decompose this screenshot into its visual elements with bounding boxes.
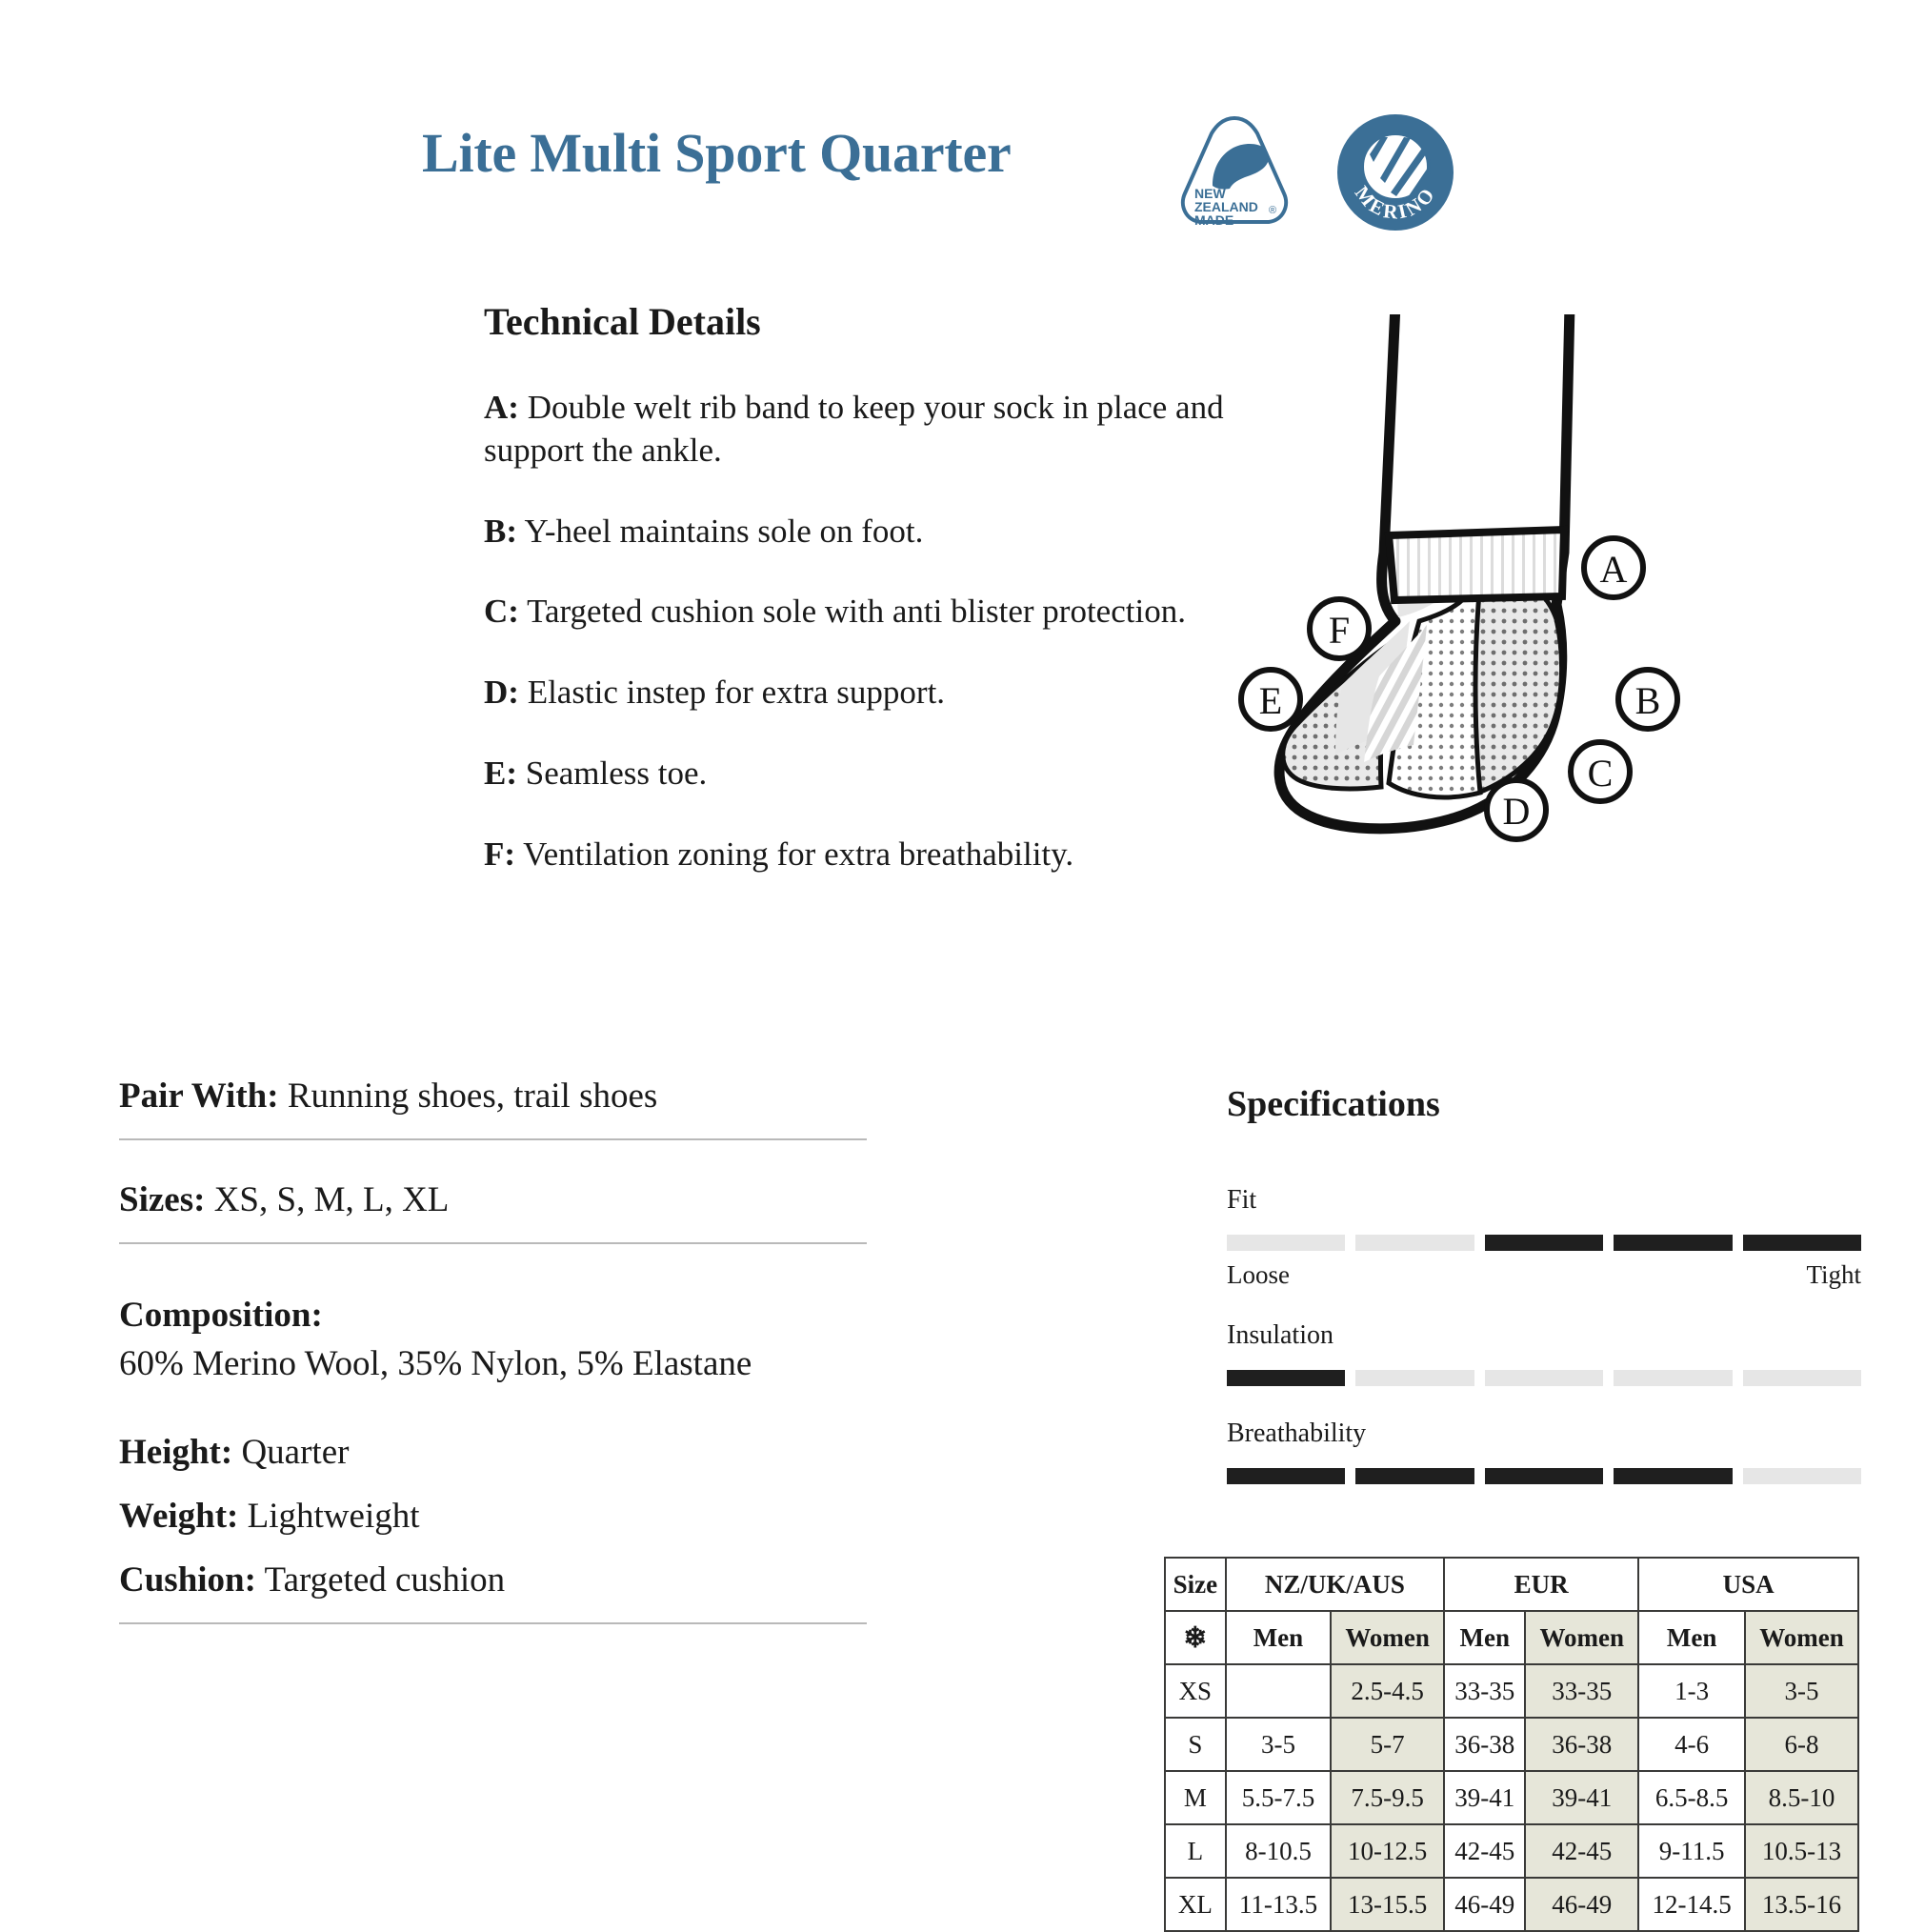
size-chart-subcol-eur-men: Men: [1444, 1611, 1525, 1664]
technical-details-section: Technical Details A: Double welt rib ban…: [484, 303, 1236, 876]
spec-segment-1: [1227, 1370, 1345, 1386]
technical-detail-f-text: Ventilation zoning for extra breathabili…: [523, 835, 1073, 873]
size-chart-header-row-2: ❄ Men Women Men Women Men Women: [1165, 1611, 1858, 1664]
nz-men-cell: 3-5: [1226, 1718, 1332, 1771]
usa-women-cell: 10.5-13: [1745, 1824, 1858, 1878]
attribute-weight-key: Weight:: [119, 1497, 238, 1536]
technical-detail-d: D: Elastic instep for extra support.: [484, 672, 1236, 714]
merino-logo: MERINO: [1335, 112, 1455, 232]
attribute-composition-key: Composition:: [119, 1296, 323, 1335]
size-chart-header-row-1: Size NZ/UK/AUS EUR USA: [1165, 1558, 1858, 1611]
size-chart-subcol-usa-men: Men: [1638, 1611, 1745, 1664]
size-chart-subcol-eur-women: Women: [1525, 1611, 1638, 1664]
page-header: Lite Multi Sport Quarter NEW ZEALAND MAD…: [0, 0, 1905, 257]
technical-detail-e-text: Seamless toe.: [526, 755, 708, 792]
spec-label-breathability: Breathability: [1227, 1420, 1861, 1447]
specifications-section: Specifications Fit Loose Tight Insulatio…: [1227, 1086, 1861, 1484]
eur-men-cell: 46-49: [1444, 1878, 1525, 1931]
specifications-heading: Specifications: [1227, 1086, 1861, 1122]
eur-men-cell: 42-45: [1444, 1824, 1525, 1878]
page-title: Lite Multi Sport Quarter: [422, 126, 1012, 181]
spec-segment-5: [1743, 1235, 1861, 1251]
new-zealand-made-logo: NEW ZEALAND MADE ®: [1173, 113, 1295, 231]
size-cell: S: [1165, 1718, 1226, 1771]
logo-group: NEW ZEALAND MADE ® MERINO: [1173, 112, 1455, 232]
spec-segment-3: [1485, 1235, 1603, 1251]
eur-men-cell: 36-38: [1444, 1718, 1525, 1771]
spec-segment-1: [1227, 1468, 1345, 1484]
attribute-pair-with-key: Pair With:: [119, 1077, 279, 1116]
eur-men-cell: 33-35: [1444, 1664, 1525, 1718]
size-cell: XL: [1165, 1878, 1226, 1931]
spec-segment-4: [1614, 1468, 1732, 1484]
eur-women-cell: 39-41: [1525, 1771, 1638, 1824]
usa-women-cell: 13.5-16: [1745, 1878, 1858, 1931]
attribute-sizes-value: XS, S, M, L, XL: [214, 1180, 450, 1219]
callout-label-f: F: [1329, 609, 1350, 652]
usa-men-cell: 4-6: [1638, 1718, 1745, 1771]
size-chart: Size NZ/UK/AUS EUR USA ❄ Men Women Men W…: [1164, 1557, 1859, 1932]
nz-women-cell: 2.5-4.5: [1331, 1664, 1444, 1718]
nz-men-cell: [1226, 1664, 1332, 1718]
attribute-sizes-key: Sizes:: [119, 1180, 205, 1219]
spec-segment-1: [1227, 1235, 1345, 1251]
sock-diagram: A B C D E F: [1229, 314, 1762, 886]
spec-ends-fit: Loose Tight: [1227, 1262, 1861, 1288]
attribute-composition-value: 60% Merino Wool, 35% Nylon, 5% Elastane: [119, 1342, 867, 1386]
callout-label-b: B: [1635, 679, 1661, 722]
table-row: M 5.5-7.5 7.5-9.5 39-41 39-41 6.5-8.5 8.…: [1165, 1771, 1858, 1824]
usa-men-cell: 6.5-8.5: [1638, 1771, 1745, 1824]
technical-detail-f-key: F:: [484, 835, 515, 873]
spec-group-breathability: Breathability: [1227, 1420, 1861, 1484]
attribute-height-value: Quarter: [241, 1433, 349, 1472]
size-chart-subcol-nz-women: Women: [1331, 1611, 1444, 1664]
technical-details-heading: Technical Details: [484, 303, 1236, 341]
technical-detail-b: B: Y-heel maintains sole on foot.: [484, 511, 1236, 553]
spec-segment-4: [1614, 1370, 1732, 1386]
spec-segment-4: [1614, 1235, 1732, 1251]
registered-trademark-icon: ®: [1269, 205, 1276, 216]
size-chart-col-nzukaus: NZ/UK/AUS: [1226, 1558, 1444, 1611]
technical-detail-b-key: B:: [484, 513, 517, 550]
callout-label-c: C: [1588, 752, 1614, 795]
spec-segment-5: [1743, 1468, 1861, 1484]
callout-label-e: E: [1259, 679, 1282, 722]
attribute-divider-3: [119, 1622, 867, 1624]
size-chart-subcol-usa-women: Women: [1745, 1611, 1858, 1664]
attributes-section: Pair With: Running shoes, trail shoes Si…: [119, 1075, 867, 1624]
size-cell: M: [1165, 1771, 1226, 1824]
eur-men-cell: 39-41: [1444, 1771, 1525, 1824]
eur-women-cell: 36-38: [1525, 1718, 1638, 1771]
nz-women-cell: 5-7: [1331, 1718, 1444, 1771]
technical-detail-c-text: Targeted cushion sole with anti blister …: [527, 593, 1186, 630]
usa-men-cell: 12-14.5: [1638, 1878, 1745, 1931]
spec-bar-fit: [1227, 1235, 1861, 1251]
usa-women-cell: 8.5-10: [1745, 1771, 1858, 1824]
spec-bar-breathability: [1227, 1468, 1861, 1484]
technical-detail-e: E: Seamless toe.: [484, 753, 1236, 795]
spec-segment-3: [1485, 1370, 1603, 1386]
spec-segment-5: [1743, 1370, 1861, 1386]
usa-men-cell: 1-3: [1638, 1664, 1745, 1718]
table-row: S 3-5 5-7 36-38 36-38 4-6 6-8: [1165, 1718, 1858, 1771]
eur-women-cell: 33-35: [1525, 1664, 1638, 1718]
technical-detail-c: C: Targeted cushion sole with anti blist…: [484, 591, 1236, 634]
attribute-cushion-key: Cushion:: [119, 1560, 256, 1600]
attribute-composition: Composition:: [119, 1294, 867, 1337]
technical-detail-f: F: Ventilation zoning for extra breathab…: [484, 834, 1236, 876]
technical-detail-e-key: E:: [484, 755, 517, 792]
nz-men-cell: 8-10.5: [1226, 1824, 1332, 1878]
nz-logo-line3: MADE: [1194, 212, 1233, 228]
table-row: L 8-10.5 10-12.5 42-45 42-45 9-11.5 10.5…: [1165, 1824, 1858, 1878]
technical-detail-d-text: Elastic instep for extra support.: [528, 674, 945, 711]
sock-illustration: A B C D E F: [1229, 314, 1762, 886]
table-row: XS 2.5-4.5 33-35 33-35 1-3 3-5: [1165, 1664, 1858, 1718]
spec-bar-insulation: [1227, 1370, 1861, 1386]
spec-end-left-fit: Loose: [1227, 1262, 1290, 1288]
size-chart-col-size: Size: [1165, 1558, 1226, 1611]
callout-label-d: D: [1503, 790, 1531, 833]
spec-group-insulation: Insulation: [1227, 1322, 1861, 1386]
size-chart-col-eur: EUR: [1444, 1558, 1638, 1611]
size-chart-table: Size NZ/UK/AUS EUR USA ❄ Men Women Men W…: [1164, 1557, 1859, 1932]
attribute-weight-value: Lightweight: [248, 1497, 420, 1536]
spec-segment-2: [1355, 1235, 1474, 1251]
attribute-weight: Weight: Lightweight: [119, 1495, 867, 1538]
size-cell: XS: [1165, 1664, 1226, 1718]
technical-detail-c-key: C:: [484, 593, 519, 630]
attribute-cushion-value: Targeted cushion: [265, 1560, 506, 1600]
nz-women-cell: 13-15.5: [1331, 1878, 1444, 1931]
table-row: XL 11-13.5 13-15.5 46-49 46-49 12-14.5 1…: [1165, 1878, 1858, 1931]
eur-women-cell: 46-49: [1525, 1878, 1638, 1931]
usa-men-cell: 9-11.5: [1638, 1824, 1745, 1878]
technical-detail-a-text: Double welt rib band to keep your sock i…: [484, 389, 1224, 469]
attribute-height-key: Height:: [119, 1433, 232, 1472]
attribute-cushion: Cushion: Targeted cushion: [119, 1559, 867, 1601]
size-cell: L: [1165, 1824, 1226, 1878]
spec-group-fit: Fit Loose Tight: [1227, 1187, 1861, 1288]
size-chart-subcol-nz-men: Men: [1226, 1611, 1332, 1664]
attribute-pair-with: Pair With: Running shoes, trail shoes: [119, 1075, 867, 1117]
usa-women-cell: 6-8: [1745, 1718, 1858, 1771]
technical-detail-b-text: Y-heel maintains sole on foot.: [524, 513, 923, 550]
attribute-height: Height: Quarter: [119, 1431, 867, 1474]
usa-women-cell: 3-5: [1745, 1664, 1858, 1718]
nz-women-cell: 7.5-9.5: [1331, 1771, 1444, 1824]
technical-detail-a-key: A:: [484, 389, 519, 426]
snowflake-icon: ❄: [1165, 1611, 1226, 1664]
technical-detail-d-key: D:: [484, 674, 519, 711]
attribute-pair-with-value: Running shoes, trail shoes: [288, 1077, 657, 1116]
callout-label-a: A: [1600, 548, 1628, 591]
spec-end-right-fit: Tight: [1806, 1262, 1861, 1288]
eur-women-cell: 42-45: [1525, 1824, 1638, 1878]
nz-men-cell: 11-13.5: [1226, 1878, 1332, 1931]
size-chart-col-usa: USA: [1638, 1558, 1858, 1611]
spec-segment-3: [1485, 1468, 1603, 1484]
attribute-sizes: Sizes: XS, S, M, L, XL: [119, 1178, 867, 1221]
nz-women-cell: 10-12.5: [1331, 1824, 1444, 1878]
spec-label-insulation: Insulation: [1227, 1322, 1861, 1349]
nz-men-cell: 5.5-7.5: [1226, 1771, 1332, 1824]
spec-segment-2: [1355, 1370, 1474, 1386]
technical-detail-a: A: Double welt rib band to keep your soc…: [484, 387, 1236, 473]
spec-label-fit: Fit: [1227, 1187, 1861, 1214]
spec-segment-2: [1355, 1468, 1474, 1484]
